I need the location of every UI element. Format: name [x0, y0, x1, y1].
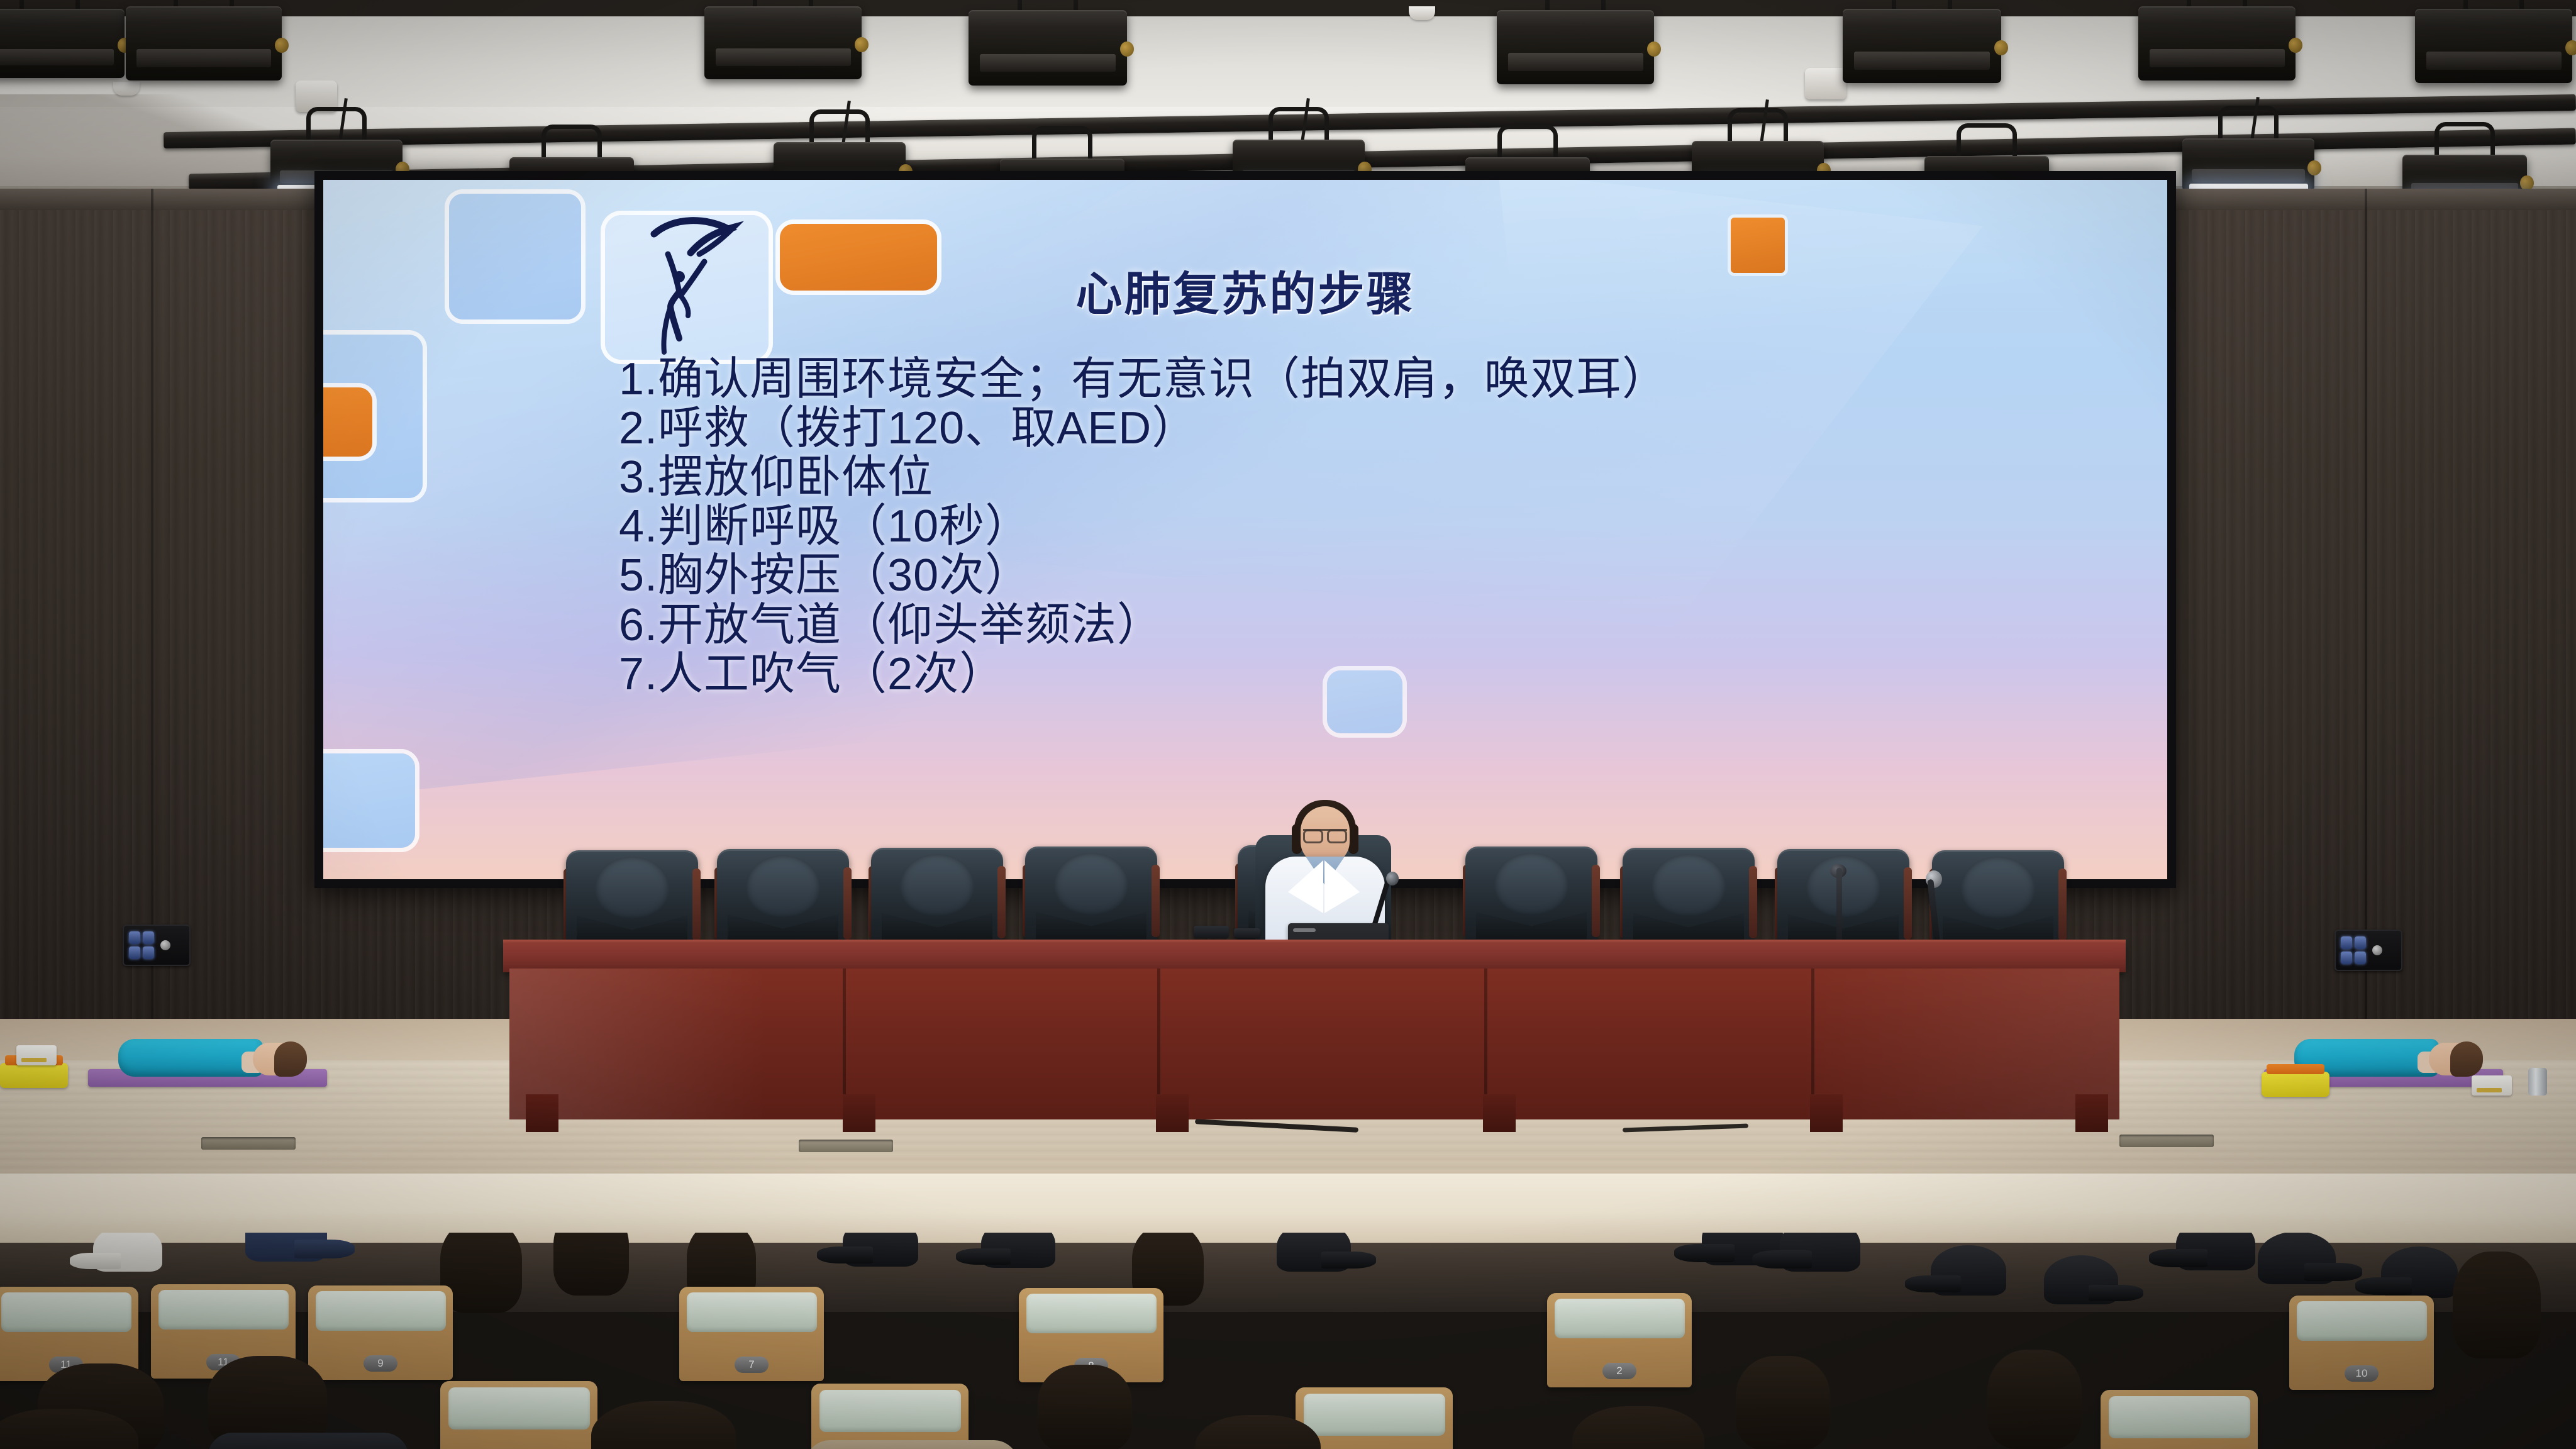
seat-cushion [1304, 1394, 1445, 1436]
light-switch[interactable] [2341, 952, 2352, 964]
stage-light[interactable] [0, 9, 125, 78]
light-switch[interactable] [143, 947, 154, 959]
microphone-shaft [1927, 879, 1940, 948]
attendee-head [2453, 1252, 2541, 1358]
table-leg [2075, 1094, 2108, 1132]
aed-training-case-left[interactable] [0, 1063, 68, 1088]
auditorium-seat[interactable]: 2 [1547, 1293, 1692, 1387]
slide-deco-orange-rect [323, 387, 372, 457]
light-yoke [2434, 122, 2495, 160]
wall-switch-plate-right[interactable] [2334, 930, 2402, 971]
stage-floor-outlet [799, 1140, 893, 1152]
seat-cushion [1555, 1299, 1685, 1338]
auditorium-seat[interactable]: 6 [811, 1384, 969, 1449]
light-yoke [306, 107, 367, 145]
stage-light[interactable] [704, 6, 862, 79]
light-housing [2138, 6, 2296, 80]
attendee-black-cap [1780, 1233, 1860, 1272]
attendee-white-cap [93, 1233, 162, 1272]
supply-box-right[interactable] [2472, 1075, 2512, 1096]
cap-brim [70, 1253, 121, 1269]
attendee-shoulders [805, 1440, 1019, 1449]
manikin-hair [2450, 1041, 2483, 1077]
chair-back [871, 848, 1003, 948]
executive-chair[interactable] [1465, 847, 1597, 947]
light-yoke [1032, 126, 1092, 164]
light-knob [1994, 40, 2008, 55]
led-presentation-screen[interactable]: 心肺复苏的步骤 1.确认周围环境安全；有无意识（拍双肩，唤双耳） 2.呼救（拨打… [314, 171, 2176, 888]
dimmer-knob-icon[interactable] [2372, 945, 2382, 955]
light-housing [126, 6, 282, 80]
stage-light[interactable] [2138, 6, 2296, 80]
attendee-black-cap [981, 1233, 1055, 1268]
cap-brim [1674, 1244, 1735, 1262]
slide-canvas: 心肺复苏的步骤 1.确认周围环境安全；有无意识（拍双肩，唤双耳） 2.呼救（拨打… [323, 180, 2167, 879]
cpr-manikin-left [88, 1030, 327, 1087]
chair-back [1465, 847, 1597, 947]
light-switch[interactable] [129, 931, 140, 944]
seat-number: 9 [364, 1355, 397, 1372]
chair-back [717, 849, 849, 950]
seat-cushion [1, 1292, 131, 1332]
light-knob [1647, 42, 1661, 57]
seat-number: 2 [1602, 1363, 1636, 1379]
manikin-hair [274, 1041, 307, 1077]
cap-brim [956, 1248, 1011, 1265]
light-knob [275, 38, 289, 53]
executive-chair[interactable] [566, 850, 698, 951]
attendee-head [553, 1233, 629, 1296]
table-leg [526, 1094, 558, 1132]
light-yoke [1728, 108, 1788, 146]
auditorium-seat[interactable]: 5 [440, 1381, 597, 1449]
table-leg [1156, 1094, 1189, 1132]
table-leg [843, 1094, 875, 1132]
chair-back [1623, 848, 1755, 948]
slide-step-item: 1.确认周围环境安全；有无意识（拍双肩，唤双耳） [619, 355, 2129, 404]
light-switch[interactable] [2355, 952, 2366, 964]
smoke-detector-icon [1409, 6, 1435, 20]
light-yoke [541, 125, 602, 162]
chair-back [566, 850, 698, 951]
cap-brim [2355, 1277, 2412, 1295]
slide-step-item: 6.开放气道（仰头举颏法） [619, 601, 2129, 650]
light-switch[interactable] [143, 931, 154, 944]
steel-cup[interactable] [2528, 1068, 2547, 1096]
seat-cushion [2109, 1396, 2250, 1438]
switch-group[interactable] [2341, 936, 2366, 964]
ceiling-vent [1805, 68, 1846, 99]
light-housing [1843, 9, 2001, 83]
aed-training-case-right[interactable] [2262, 1072, 2329, 1097]
seat-cushion [2297, 1301, 2427, 1341]
light-housing [704, 6, 862, 79]
switch-group[interactable] [129, 931, 154, 959]
cap-brim [1752, 1250, 1812, 1269]
attendee-black-cap [2176, 1233, 2255, 1270]
attendee-black-cap [1277, 1233, 1351, 1272]
chair-back [1025, 847, 1157, 947]
cap-brim [1905, 1275, 1961, 1292]
seat-cushion [1026, 1294, 1157, 1333]
light-switch[interactable] [129, 947, 140, 959]
chair-arm [1749, 866, 1757, 938]
light-knob [2289, 38, 2302, 53]
desk-device[interactable] [1234, 928, 1260, 938]
light-yoke [809, 109, 870, 147]
seat-number: 7 [735, 1357, 769, 1373]
microphone-head-icon [1386, 872, 1399, 885]
light-knob [2565, 40, 2576, 55]
attendee-shoulders [208, 1433, 409, 1449]
supply-box-left[interactable] [16, 1045, 57, 1065]
seat-cushion [316, 1291, 446, 1331]
cap-brim [2304, 1263, 2362, 1281]
stage-floor-outlet [201, 1137, 296, 1150]
attendee-black-cap [2258, 1233, 2336, 1284]
attendee-head [1987, 1350, 2082, 1449]
stage-light[interactable] [126, 6, 282, 80]
light-switch[interactable] [2341, 936, 2352, 949]
stage-light-lit[interactable] [2182, 138, 2314, 191]
seat-cushion [819, 1390, 961, 1432]
chair-arm [843, 867, 852, 940]
attendee-navy-cap [245, 1233, 327, 1262]
attendee-black-cap [2381, 1246, 2458, 1298]
attendee-black-cap [1931, 1245, 2006, 1296]
executive-chair[interactable] [1025, 847, 1157, 947]
auditorium-seat[interactable]: 10 [2289, 1296, 2434, 1390]
smoke-detector-icon [113, 82, 140, 96]
slide-step-item: 5.胸外按压（30次） [619, 551, 2129, 600]
dimmer-knob-icon[interactable] [160, 940, 170, 950]
cap-brim [2149, 1249, 2207, 1267]
seat-cushion [158, 1290, 289, 1330]
light-yoke [2218, 106, 2279, 143]
attendee-head [1038, 1365, 1132, 1449]
stage-floor-outlet [2119, 1135, 2214, 1147]
attendee-head-foreground [1572, 1406, 1704, 1449]
chair-arm [1592, 865, 1600, 937]
slide-step-item: 4.判断呼吸（10秒） [619, 502, 2129, 551]
light-yoke [1269, 107, 1329, 145]
glasses-icon [1303, 829, 1347, 839]
attendee-head-foreground [591, 1401, 736, 1449]
chair-arm [997, 866, 1006, 938]
stage-light[interactable] [2415, 9, 2572, 83]
audience-area: 11 11 9 7 8 2 10 [0, 1233, 2576, 1449]
wall-panel-seam [151, 189, 153, 1107]
desk-device[interactable] [1194, 926, 1229, 938]
executive-chair[interactable] [1623, 848, 1755, 948]
table-leg [1483, 1094, 1516, 1132]
seat-number: 10 [2345, 1365, 2379, 1382]
attendee-black-cap [2044, 1255, 2118, 1304]
slide-deco-rounded-rect [323, 753, 415, 848]
cap-brim [1321, 1252, 1376, 1269]
table-leg [1810, 1094, 1843, 1132]
auditorium-seat[interactable]: 9 [308, 1285, 453, 1380]
auditorium-scene: 心肺复苏的步骤 1.确认周围环境安全；有无意识（拍双肩，唤双耳） 2.呼救（拨打… [0, 0, 2576, 1449]
seat-cushion [448, 1387, 590, 1430]
cap-brim [294, 1240, 355, 1258]
auditorium-seat[interactable]: 4 [2101, 1390, 2258, 1449]
light-housing [1497, 10, 1654, 84]
stage-light[interactable] [1843, 9, 2001, 83]
attendee-black-cap [843, 1233, 918, 1267]
cap-brim [2089, 1285, 2143, 1302]
slide-step-item: 2.呼救（拨打120、取AED） [619, 404, 2129, 453]
chair-arm [692, 869, 701, 941]
executive-chair[interactable] [717, 849, 849, 950]
wall-switch-plate-left[interactable] [123, 924, 191, 966]
slide-step-item: 3.摆放仰卧体位 [619, 453, 2129, 502]
conference-table-front [509, 969, 2119, 1119]
light-housing [0, 9, 125, 78]
chair-arm [2058, 869, 2067, 941]
light-housing [969, 10, 1127, 86]
cap-brim [817, 1246, 873, 1263]
light-knob [855, 37, 869, 52]
stage-light[interactable] [969, 10, 1127, 86]
chair-arm [1152, 865, 1160, 937]
light-housing [2415, 9, 2572, 83]
light-switch[interactable] [2355, 936, 2366, 949]
stage-light[interactable] [1497, 10, 1654, 84]
seat-cushion [687, 1292, 817, 1332]
executive-chair[interactable] [871, 848, 1003, 948]
slide-step-item: 7.人工吹气（2次） [619, 650, 2129, 699]
auditorium-seat[interactable]: 7 [679, 1287, 824, 1381]
attendee-head [1736, 1356, 1830, 1449]
light-yoke [1497, 125, 1558, 162]
slide-title: 心肺复苏的步骤 [323, 257, 2167, 324]
light-yoke [1957, 123, 2017, 161]
slide-step-list: 1.确认周围环境安全；有无意识（拍双肩，唤双耳） 2.呼救（拨打120、取AED… [619, 355, 2129, 699]
